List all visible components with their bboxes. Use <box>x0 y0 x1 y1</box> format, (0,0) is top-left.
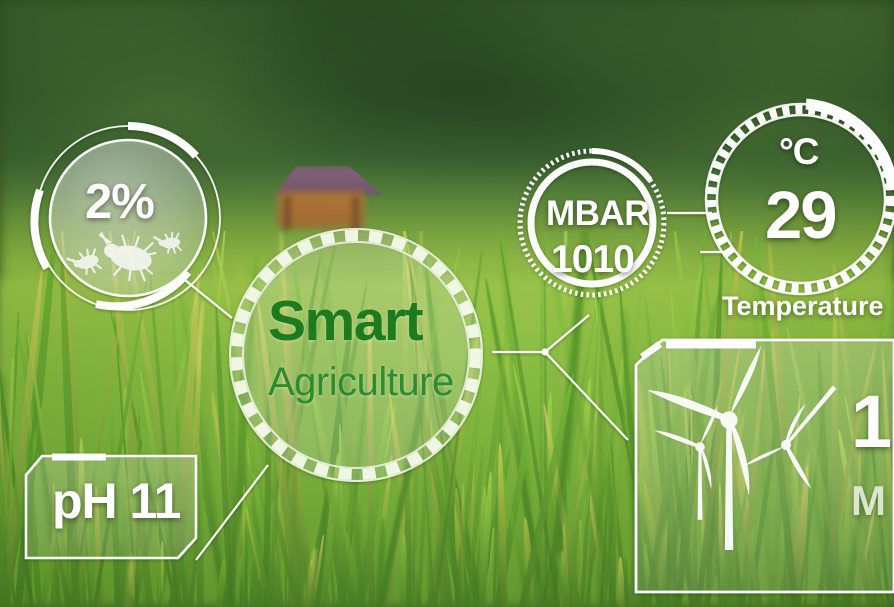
wind-unit: M <box>851 480 886 522</box>
temperature-unit: °C <box>779 133 819 170</box>
wind-widget[interactable] <box>636 340 894 592</box>
temperature-value: 29 <box>765 182 836 249</box>
temperature-caption: Temperature <box>722 293 884 320</box>
connector-node <box>541 348 548 355</box>
ph-value: pH 11 <box>52 476 180 526</box>
page-subtitle: Agriculture <box>268 362 454 402</box>
pressure-unit: MBAR <box>546 196 649 231</box>
smart-agriculture-infographic: 2% Smart Agriculture MBAR 1010 °C 29 Tem… <box>0 0 894 607</box>
wind-value: 1 <box>851 385 890 459</box>
page-title: Smart <box>268 293 422 350</box>
pressure-value: 1010 <box>551 240 634 279</box>
center-widget[interactable] <box>230 229 482 481</box>
pest-value: 2% <box>85 178 154 227</box>
hud-overlay: 2% Smart Agriculture MBAR 1010 °C 29 Tem… <box>0 0 894 607</box>
